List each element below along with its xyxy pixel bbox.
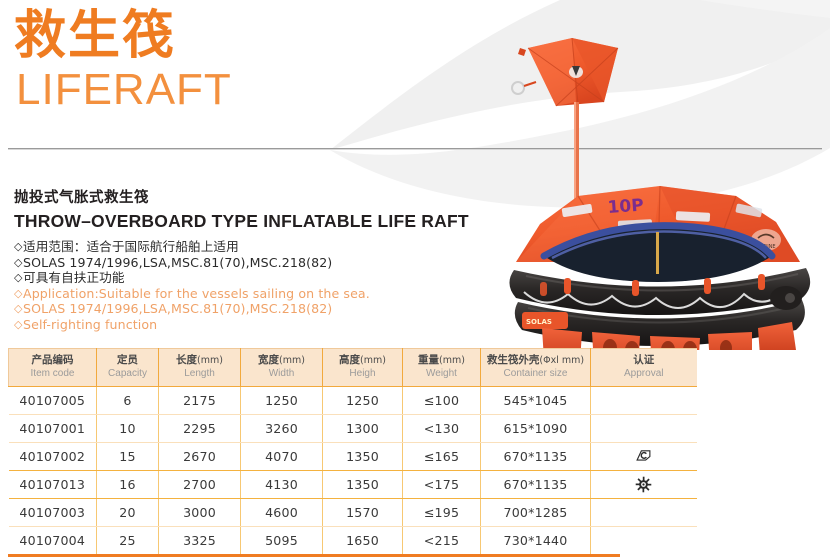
cell-length: 2670: [159, 443, 241, 471]
cell-width: 5095: [241, 527, 323, 555]
tether-line: [574, 102, 579, 202]
page-title-en: LIFERAFT: [16, 68, 434, 112]
cell-code: 40107005: [9, 387, 97, 415]
cell-width: 4600: [241, 499, 323, 527]
col-header-cn: 产品编码: [11, 354, 94, 367]
cell-capacity: 6: [97, 387, 159, 415]
cell-code: 40107004: [9, 527, 97, 555]
cell-height: 1250: [323, 387, 403, 415]
product-subtitle-cn: 抛投式气胀式救生筏: [14, 186, 514, 207]
cell-weight: <175: [403, 471, 481, 499]
col-header-cn: 长度(mm): [161, 354, 238, 367]
col-header-en: Approval: [593, 367, 695, 380]
cell-approval: [591, 415, 697, 443]
cell-length: 2175: [159, 387, 241, 415]
diamond-bullet-icon: ◇: [14, 301, 23, 317]
cell-container: 545*1045: [481, 387, 591, 415]
table-col-header: 宽度(mm)Width: [241, 349, 323, 387]
product-feature-list: ◇适用范围：适合于国际航行船舶上适用◇SOLAS 1974/1996,LSA,M…: [14, 239, 514, 333]
raft-label-patch: [522, 312, 568, 329]
specification-table-wrap: 产品编码Item code定员Capacity长度(mm)Length宽度(mm…: [8, 348, 620, 557]
col-header-cn: 高度(mm): [325, 354, 400, 367]
svg-text:SOLAS: SOLAS: [526, 318, 552, 326]
rope-attachment-patches: [540, 274, 765, 296]
col-header-en: Length: [161, 367, 238, 380]
page-title-block: 救生筏 LIFERAFT: [14, 8, 434, 112]
cell-weight: ≤165: [403, 443, 481, 471]
table-col-header: 认证Approval: [591, 349, 697, 387]
diamond-bullet-icon: ◇: [14, 270, 23, 286]
product-subtitle-en: THROW–OVERBOARD TYPE INFLATABLE LIFE RAF…: [14, 211, 514, 232]
feature-text: 可具有自扶正功能: [23, 270, 125, 285]
table-col-header: 长度(mm)Length: [159, 349, 241, 387]
col-header-en: Width: [243, 367, 320, 380]
col-header-en: Container size: [483, 367, 588, 380]
diamond-bullet-icon: ◇: [14, 255, 23, 271]
feature-item: ◇可具有自扶正功能: [14, 270, 514, 286]
cell-approval: [591, 527, 697, 555]
med-wheelmark-icon: [635, 476, 652, 493]
feature-text: Application:Suitable for the vessels sai…: [23, 286, 370, 301]
feature-text: 适用范围：适合于国际航行船舶上适用: [23, 239, 239, 254]
cell-code: 40107013: [9, 471, 97, 499]
feature-item: ◇适用范围：适合于国际航行船舶上适用: [14, 239, 514, 255]
approval-mark: [635, 476, 652, 493]
swoosh-shape-top-small: [700, 0, 830, 18]
feature-text: SOLAS 1974/1996,LSA,MSC.81(70),MSC.218(8…: [23, 301, 332, 316]
table-body: 401070056217512501250≤100545*10454010700…: [9, 387, 697, 555]
specification-table: 产品编码Item code定员Capacity长度(mm)Length宽度(mm…: [8, 348, 697, 554]
cell-width: 4130: [241, 471, 323, 499]
feature-item: ◇Application:Suitable for the vessels sa…: [14, 286, 514, 302]
cell-weight: ≤100: [403, 387, 481, 415]
cell-capacity: 10: [97, 415, 159, 443]
ccs-certification-icon: [635, 448, 652, 465]
cell-capacity: 25: [97, 527, 159, 555]
cell-height: 1570: [323, 499, 403, 527]
table-col-header: 高度(mm)Heigh: [323, 349, 403, 387]
col-header-cn: 定员: [99, 354, 156, 367]
col-header-unit: (mm): [279, 355, 305, 366]
cell-length: 2295: [159, 415, 241, 443]
product-photo-liferaft: 10P MARINE SOLAS: [500, 10, 830, 350]
col-header-unit: (mm): [439, 355, 465, 366]
product-spec-block: 抛投式气胀式救生筏 THROW–OVERBOARD TYPE INFLATABL…: [14, 186, 514, 333]
col-header-cn: 重量(mm): [405, 354, 478, 367]
cell-capacity: 16: [97, 471, 159, 499]
col-header-cn: 救生筏外壳(Φxl mm): [483, 354, 588, 367]
table-col-header: 产品编码Item code: [9, 349, 97, 387]
diamond-bullet-icon: ◇: [14, 239, 23, 255]
feature-item: ◇SOLAS 1974/1996,LSA,MSC.81(70),MSC.218(…: [14, 301, 514, 317]
cell-capacity: 15: [97, 443, 159, 471]
header-divider: [8, 148, 822, 150]
cell-approval: [591, 443, 697, 471]
cell-container: 700*1285: [481, 499, 591, 527]
cell-length: 2700: [159, 471, 241, 499]
canopy-capacity-label: 10P: [607, 196, 644, 218]
col-header-en: Item code: [11, 367, 94, 380]
lifeline-rope: [524, 288, 788, 308]
approval-mark: [635, 448, 652, 465]
table-row: 4010700215267040701350≤165670*1135: [9, 443, 697, 471]
ballast-pockets: [542, 322, 796, 350]
feature-text: SOLAS 1974/1996,LSA,MSC.81(70),MSC.218(8…: [23, 255, 332, 270]
col-header-unit: (mm): [360, 355, 386, 366]
diamond-bullet-icon: ◇: [14, 317, 23, 333]
col-header-unit: (mm): [197, 355, 223, 366]
table-header-row: 产品编码Item code定员Capacity长度(mm)Length宽度(mm…: [9, 349, 697, 387]
cell-code: 40107001: [9, 415, 97, 443]
table-row: 4010700425332550951650<215730*1440: [9, 527, 697, 555]
sea-anchor-canopy: [512, 38, 618, 106]
cell-length: 3325: [159, 527, 241, 555]
diamond-bullet-icon: ◇: [14, 286, 23, 302]
col-header-cn: 认证: [593, 354, 695, 367]
cell-width: 4070: [241, 443, 323, 471]
col-header-cn: 宽度(mm): [243, 354, 320, 367]
feature-text: Self-righting function: [23, 317, 157, 332]
cell-weight: <130: [403, 415, 481, 443]
buoyancy-tube-lower: [515, 300, 805, 346]
col-header-en: Weight: [405, 367, 478, 380]
table-row: 4010700320300046001570≤195700*1285: [9, 499, 697, 527]
cell-height: 1300: [323, 415, 403, 443]
cell-code: 40107003: [9, 499, 97, 527]
cell-capacity: 20: [97, 499, 159, 527]
cell-approval: [591, 499, 697, 527]
cell-code: 40107002: [9, 443, 97, 471]
cell-height: 1350: [323, 471, 403, 499]
raft-entrance: [544, 226, 772, 282]
cell-width: 3260: [241, 415, 323, 443]
svg-text:MARINE: MARINE: [756, 244, 776, 250]
table-row: 4010701316270041301350<175670*1135: [9, 471, 697, 499]
table-col-header: 重量(mm)Weight: [403, 349, 481, 387]
cell-weight: <215: [403, 527, 481, 555]
cell-height: 1350: [323, 443, 403, 471]
page-title-cn: 救生筏: [14, 8, 434, 64]
cell-height: 1650: [323, 527, 403, 555]
table-row: 401070056217512501250≤100545*1045: [9, 387, 697, 415]
col-header-en: Heigh: [325, 367, 400, 380]
cell-weight: ≤195: [403, 499, 481, 527]
table-col-header: 定员Capacity: [97, 349, 159, 387]
feature-item: ◇Self-righting function: [14, 317, 514, 333]
feature-item: ◇SOLAS 1974/1996,LSA,MSC.81(70),MSC.218(…: [14, 255, 514, 271]
col-header-unit: (Φxl mm): [539, 355, 584, 366]
cell-approval: [591, 387, 697, 415]
cell-container: 670*1135: [481, 471, 591, 499]
buoyancy-tube-upper: [509, 268, 810, 315]
cell-container: 670*1135: [481, 443, 591, 471]
table-col-header: 救生筏外壳(Φxl mm)Container size: [481, 349, 591, 387]
cell-length: 3000: [159, 499, 241, 527]
table-row: 4010700110229532601300<130615*1090: [9, 415, 697, 443]
cell-approval: [591, 471, 697, 499]
col-header-en: Capacity: [99, 367, 156, 380]
cell-container: 615*1090: [481, 415, 591, 443]
cell-container: 730*1440: [481, 527, 591, 555]
liferaft-body: 10P MARINE SOLAS: [509, 186, 810, 350]
cell-width: 1250: [241, 387, 323, 415]
